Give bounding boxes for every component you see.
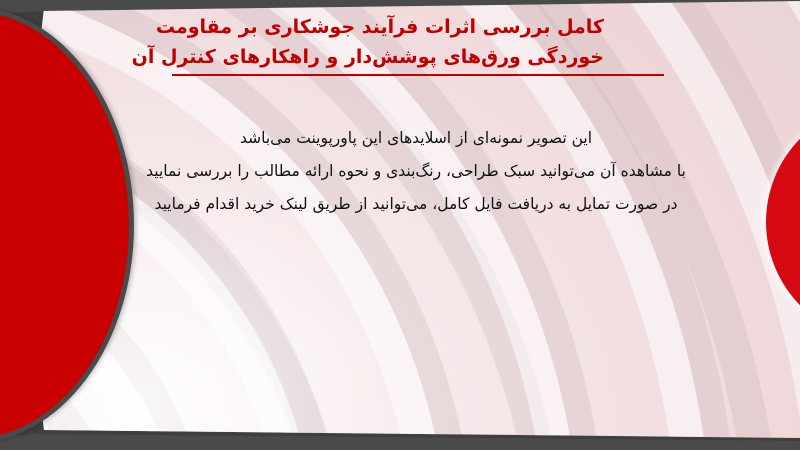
body-line-3: در صورت تمایل به دریافت فایل کامل، می‌تو… <box>66 188 766 221</box>
body-line-2: با مشاهده آن می‌توانید سبک طراحی، رنگ‌بن… <box>66 155 766 188</box>
slide-title-line-1: کامل بررسی اثرات فرآیند جوشکاری بر مقاوم… <box>172 12 604 42</box>
slide-title: کامل بررسی اثرات فرآیند جوشکاری بر مقاوم… <box>172 12 604 76</box>
slide-body: این تصویر نمونه‌ای از اسلایدهای این پاور… <box>66 122 766 221</box>
body-line-1: این تصویر نمونه‌ای از اسلایدهای این پاور… <box>66 122 766 155</box>
presentation-slide: کامل بررسی اثرات فرآیند جوشکاری بر مقاوم… <box>0 0 800 450</box>
slide-title-line-2: خوردگی ورق‌های پوشش‌دار و راهکارهای کنتر… <box>172 42 664 76</box>
